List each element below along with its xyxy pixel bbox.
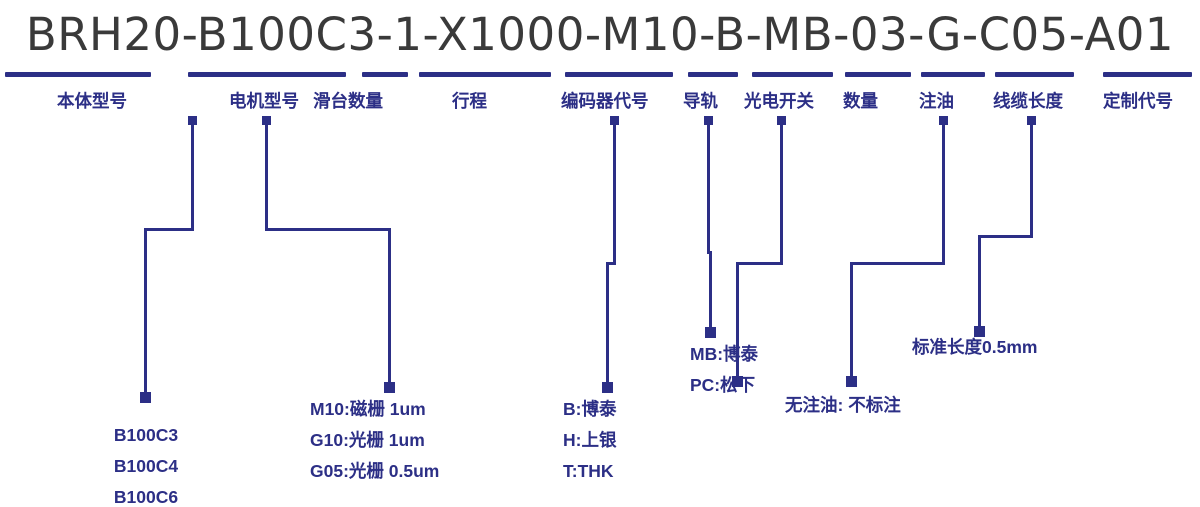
options-body-model: B100C3 B100C4 B100C6 [96,420,196,507]
leader-encoder-code-seg1 [613,122,616,264]
option-body-model-1: B100C4 [96,451,196,482]
field-label-guide-rail: 导轨 [683,90,718,112]
bar-cable-length [995,72,1074,77]
leader-body-model-seg3 [144,228,147,396]
leader-guide-rail-seg3 [709,251,712,331]
options-lubrication: 无注油: 不标注 [785,390,901,421]
leader-body-model-seg1 [191,122,194,230]
field-label-lubrication: 注油 [919,90,954,112]
leader-guide-rail-seg1 [707,122,710,254]
leader-motor-model-seg3 [388,228,391,386]
leader-endpoint-body-model [140,392,151,403]
bar-quantity [845,72,911,77]
leader-motor-model-seg2 [265,228,391,231]
option-guide-rail-1: H:上银 [563,425,616,456]
bar-slider-count [362,72,408,77]
model-code-breakdown-diagram: BRH20-B100C3-1-X1000-M10-B-MB-03-G-C05-A… [0,0,1200,507]
leader-quantity-seg2 [850,262,945,265]
bar-motor-model [188,72,346,77]
option-encoder-code-0: M10:磁栅 1um [310,394,439,425]
bar-guide-rail [688,72,738,77]
field-label-quantity: 数量 [843,90,878,112]
field-label-motor-model: 电机型号 [229,90,299,112]
field-label-encoder-code: 编码器代号 [561,90,649,112]
bar-stroke [419,72,551,77]
bar-lubrication [921,72,985,77]
option-guide-rail-2: T:THK [563,456,616,487]
option-cable-length-0: 标准长度0.5mm [912,332,1037,363]
leader-cable-length-seg1 [1030,122,1033,238]
option-encoder-code-2: G05:光栅 0.5um [310,456,439,487]
option-guide-rail-0: B:博泰 [563,394,616,425]
leader-cable-length-seg3 [978,235,981,330]
leader-cable-length-seg2 [978,235,1033,238]
option-photo-switch-1: PC:松下 [690,370,758,401]
leader-encoder-code-seg3 [606,262,609,386]
field-label-custom-code: 定制代号 [1103,90,1173,112]
leader-endpoint-guide-rail [705,327,716,338]
leader-photo-switch-seg2 [736,262,783,265]
leader-motor-model-seg1 [265,122,268,230]
leader-endpoint-encoder-code [602,382,613,393]
field-label-slider-count: 滑台数量 [313,90,383,112]
option-lubrication-0: 无注油: 不标注 [785,390,901,421]
options-cable-length: 标准长度0.5mm [912,332,1037,363]
leader-photo-switch-seg1 [780,122,783,264]
field-label-body-model: 本体型号 [57,90,127,112]
option-body-model-0: B100C3 [96,420,196,451]
option-body-model-2: B100C6 [96,482,196,507]
leader-endpoint-motor-model [384,382,395,393]
field-label-stroke: 行程 [452,90,487,112]
leader-body-model-seg2 [144,228,194,231]
field-label-cable-length: 线缆长度 [993,90,1063,112]
bar-custom-code [1103,72,1192,77]
page-title: BRH20-B100C3-1-X1000-M10-B-MB-03-G-C05-A… [0,6,1200,64]
options-guide-rail: B:博泰 H:上银 T:THK [563,394,616,487]
bar-photo-switch [752,72,833,77]
field-label-photo-switch: 光电开关 [744,90,814,112]
leader-quantity-seg3 [850,262,853,380]
options-encoder-code: M10:磁栅 1um G10:光栅 1um G05:光栅 0.5um [310,394,439,487]
options-photo-switch: MB:博泰 PC:松下 [690,339,758,401]
option-photo-switch-0: MB:博泰 [690,339,758,370]
leader-endpoint-quantity [846,376,857,387]
option-encoder-code-1: G10:光栅 1um [310,425,439,456]
leader-quantity-seg1 [942,122,945,264]
bar-encoder-code [565,72,673,77]
bar-body-model [5,72,151,77]
